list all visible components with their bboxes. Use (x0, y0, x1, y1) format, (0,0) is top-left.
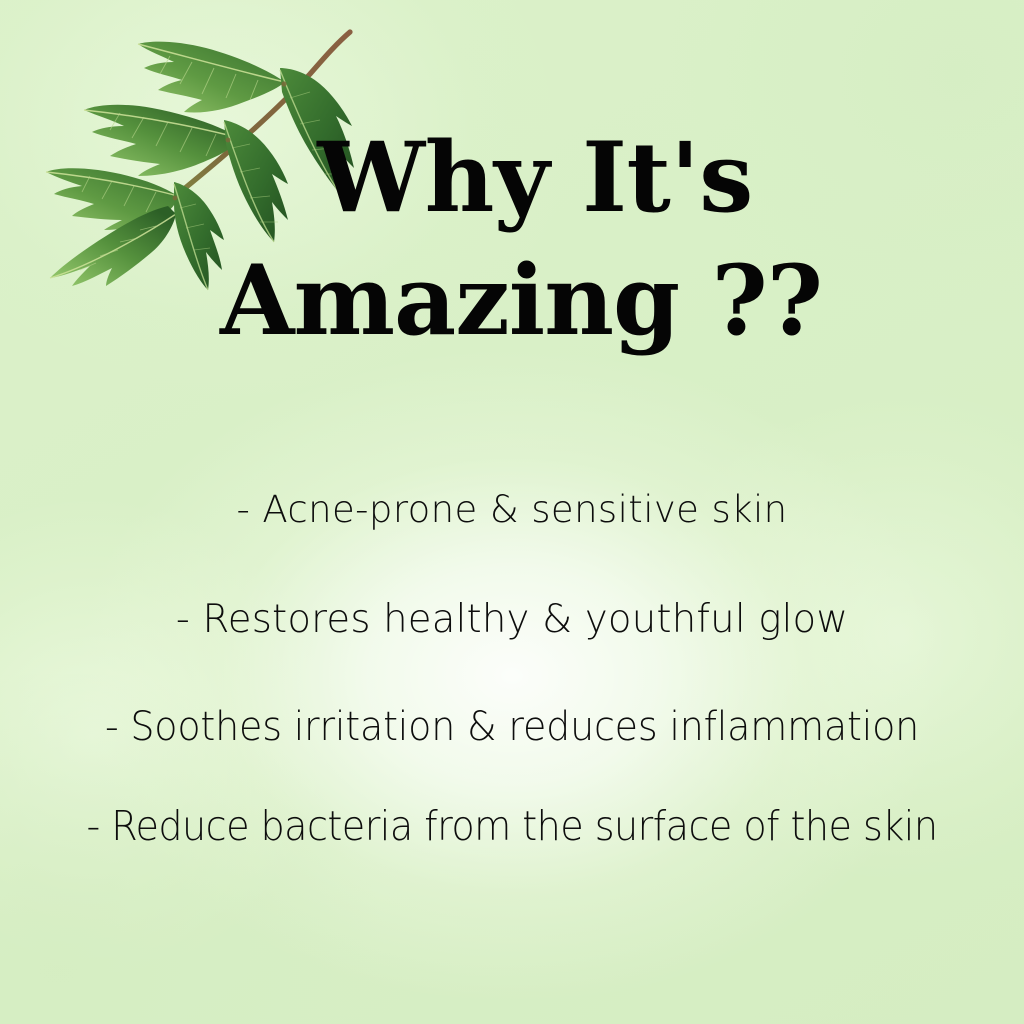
headline-line-2: Amazing ?? (0, 240, 1024, 363)
benefit-item-1: - Acne-prone & sensitive skin (0, 488, 1024, 531)
page-title: Why It's Amazing ?? (0, 117, 1024, 363)
poster-canvas: Why It's Amazing ?? - Acne-prone & sensi… (0, 0, 1024, 1024)
benefit-item-2: - Restores healthy & youthful glow (5, 597, 1019, 642)
headline-line-1: Why It's (0, 117, 1024, 240)
benefit-item-4: - Reduce bacteria from the surface of th… (36, 802, 988, 850)
leaflet-1 (138, 42, 285, 113)
benefits-list: - Acne-prone & sensitive skin - Restores… (0, 488, 1024, 850)
benefit-item-3: - Soothes irritation & reduces inflammat… (26, 704, 999, 750)
